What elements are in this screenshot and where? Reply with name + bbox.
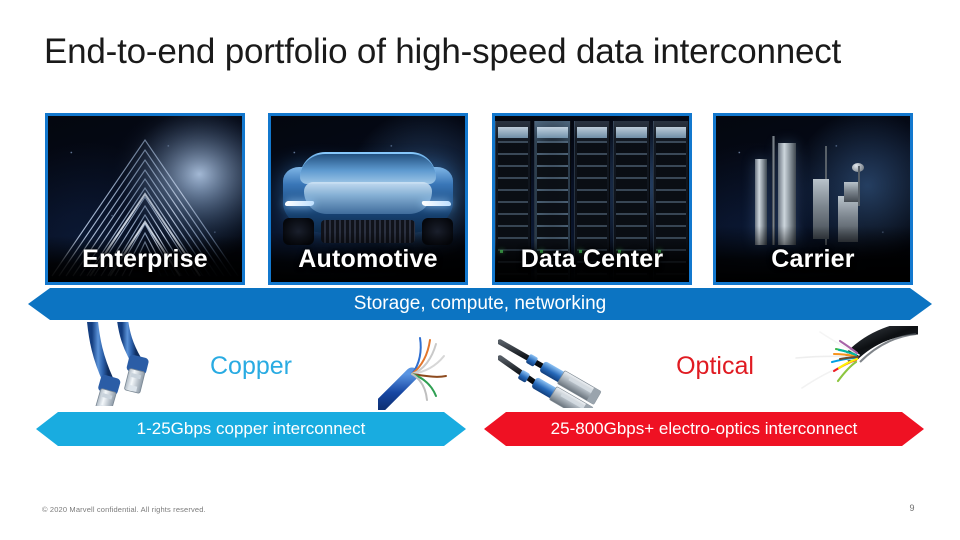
segment-tile-carrier[interactable]: Carrier xyxy=(713,113,913,285)
footer-copyright: © 2020 Marvell confidential. All rights … xyxy=(42,505,206,514)
fiber-optic-bundle-image xyxy=(786,326,918,410)
banner-storage-compute-networking[interactable]: Storage, compute, networking xyxy=(28,288,932,320)
qsfp-dac-cables-image xyxy=(498,332,616,408)
banner-copper-interconnect[interactable]: 1-25Gbps copper interconnect xyxy=(36,412,466,446)
page-number: 9 xyxy=(900,503,924,513)
segment-label: Carrier xyxy=(716,245,910,274)
twisted-pair-cable-image xyxy=(378,334,478,410)
segment-tile-automotive[interactable]: Automotive xyxy=(268,113,468,285)
banner-label: 25-800Gbps+ electro-optics interconnect xyxy=(551,419,858,439)
optical-label: Optical xyxy=(660,352,770,381)
banner-label: Storage, compute, networking xyxy=(354,293,606,315)
ethernet-patch-cables-image xyxy=(78,322,190,406)
segment-tile-enterprise[interactable]: Enterprise xyxy=(45,113,245,285)
banner-label: 1-25Gbps copper interconnect xyxy=(137,419,366,439)
segment-label: Enterprise xyxy=(48,245,242,274)
copper-label: Copper xyxy=(196,352,306,381)
slide-canvas: End-to-end portfolio of high-speed data … xyxy=(0,0,960,540)
page-title: End-to-end portfolio of high-speed data … xyxy=(44,32,924,72)
segment-label: Data Center xyxy=(495,245,689,274)
segment-label: Automotive xyxy=(271,245,465,274)
segment-tile-data-center[interactable]: Data Center xyxy=(492,113,692,285)
banner-optical-interconnect[interactable]: 25-800Gbps+ electro-optics interconnect xyxy=(484,412,924,446)
